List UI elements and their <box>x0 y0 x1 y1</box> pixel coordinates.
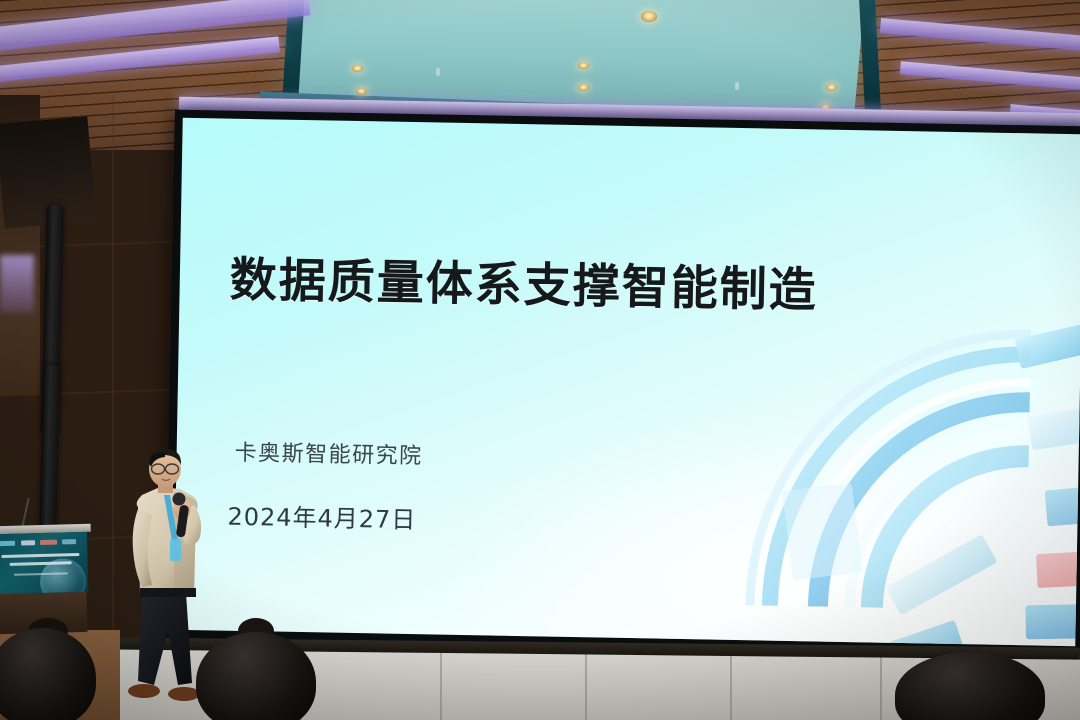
slide-title: 数据质量体系支撑智能制造 <box>229 241 818 321</box>
ceiling-sprinkler-icon <box>436 68 440 76</box>
floor-tile-seam <box>730 648 732 720</box>
wall-accent-light <box>0 255 34 313</box>
ceiling-downlight-icon <box>578 62 589 69</box>
banner-text-line <box>1 553 79 558</box>
projection-screen[interactable]: 数据质量体系支撑智能制造 卡奥斯智能研究院 2024年4月27日 <box>165 110 1080 655</box>
presentation-slide[interactable]: 数据质量体系支撑智能制造 卡奥斯智能研究院 2024年4月27日 <box>173 118 1080 646</box>
event-banner <box>0 532 88 594</box>
floor-tile-seam <box>880 648 882 720</box>
ceiling-downlight-icon <box>641 11 657 22</box>
floor-tile-seam <box>440 648 442 720</box>
arc-ribbon-graphic <box>721 305 1080 646</box>
floor-tile-seam <box>585 648 587 720</box>
ceiling-sprinkler-icon <box>735 82 739 90</box>
lectern[interactable] <box>0 524 93 632</box>
ceiling-downlight-icon <box>356 88 367 95</box>
slide-date: 2024年4月27日 <box>227 497 417 535</box>
ceiling-downlight-icon <box>352 65 363 72</box>
slide-organization: 卡奥斯智能研究院 <box>234 435 423 470</box>
ceiling-downlight-icon <box>826 84 837 91</box>
banner-logo-chip <box>40 540 57 545</box>
conference-photo-scene: 数据质量体系支撑智能制造 卡奥斯智能研究院 2024年4月27日 <box>0 0 1080 720</box>
banner-logo-chip <box>62 539 76 544</box>
banner-logo-chip <box>21 540 35 545</box>
ceiling-downlight-icon <box>578 84 589 91</box>
banner-logo-chip <box>0 541 15 546</box>
